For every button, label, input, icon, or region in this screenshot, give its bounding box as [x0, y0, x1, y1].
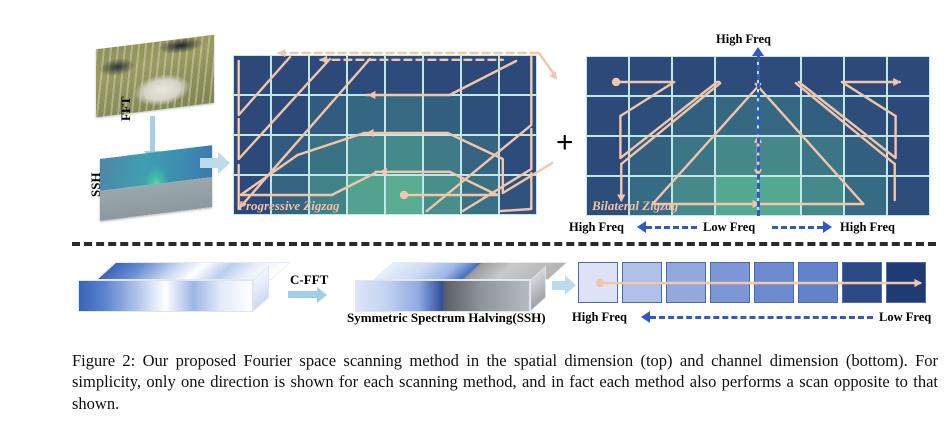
- channel-right-freq-label: Low Freq: [879, 310, 931, 325]
- channel-left-freq-label: High Freq: [572, 310, 627, 325]
- channel-left-arrow-icon: [641, 311, 650, 323]
- figure-caption: Figure 2: Our proposed Fourier space sca…: [72, 350, 938, 414]
- channel-scan-arrow-head: [915, 279, 923, 287]
- channel-axis-dash: [650, 316, 873, 319]
- figure-2-container: FFT SSH Progressive Zigzag + Bilateral Z…: [0, 0, 947, 431]
